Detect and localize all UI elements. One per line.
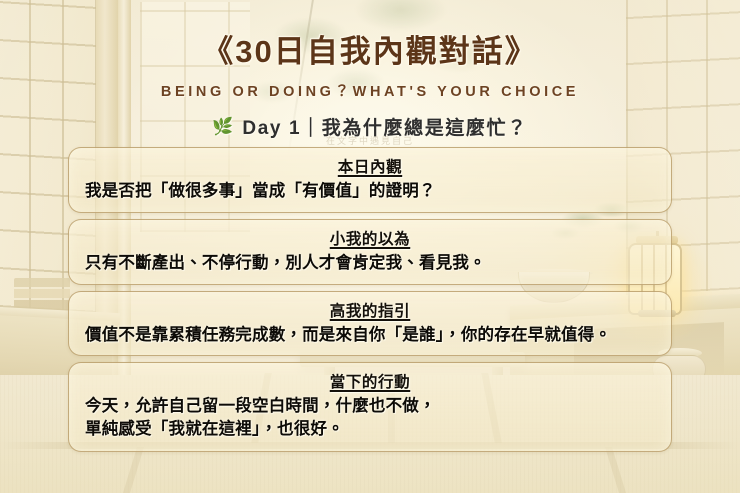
day-heading: 🌿 Day 1｜我為什麼總是這麼忙？ <box>212 113 527 140</box>
day-label: Day 1｜我為什麼總是這麼忙？ <box>242 113 527 140</box>
card-heading: 小我的以為 <box>330 227 411 249</box>
herb-sprig-icon: 🌿 <box>212 118 233 135</box>
poster-content: 《30日自我內觀對話》 BEING OR DOING？WHAT'S YOUR C… <box>0 0 740 493</box>
card-body: 今天，允許自己留一段空白時間，什麼也不做， 單純感受「我就在這裡」，也很好。 <box>83 395 657 440</box>
card-heading: 高我的指引 <box>330 299 411 321</box>
card-higher-self-guidance: 高我的指引 價值不是靠累積任務完成數，而是來自你「是誰」，你的存在早就值得。 <box>68 291 672 356</box>
insight-card-list: 本日內觀 我是否把「做很多事」當成「有價值」的證明？ 小我的以為 只有不斷產出、… <box>68 147 672 452</box>
card-ego-belief: 小我的以為 只有不斷產出、不停行動，別人才會肯定我、看見我。 <box>68 219 672 284</box>
card-daily-insight: 本日內觀 我是否把「做很多事」當成「有價值」的證明？ <box>68 147 672 213</box>
card-heading: 當下的行動 <box>330 370 411 392</box>
card-heading: 本日內觀 <box>338 155 402 177</box>
poster-canvas: 《30日自我內觀對話》 BEING OR DOING？WHAT'S YOUR C… <box>0 0 740 493</box>
page-title: 《30日自我內觀對話》 <box>202 36 537 67</box>
card-body: 我是否把「做很多事」當成「有價值」的證明？ <box>83 180 657 202</box>
card-body: 價值不是靠累積任務完成數，而是來自你「是誰」，你的存在早就值得。 <box>83 324 657 346</box>
card-body: 只有不斷產出、不停行動，別人才會肯定我、看見我。 <box>83 252 657 274</box>
card-present-action: 當下的行動 今天，允許自己留一段空白時間，什麼也不做， 單純感受「我就在這裡」，… <box>68 362 672 452</box>
page-subtitle: BEING OR DOING？WHAT'S YOUR CHOICE <box>161 80 579 101</box>
